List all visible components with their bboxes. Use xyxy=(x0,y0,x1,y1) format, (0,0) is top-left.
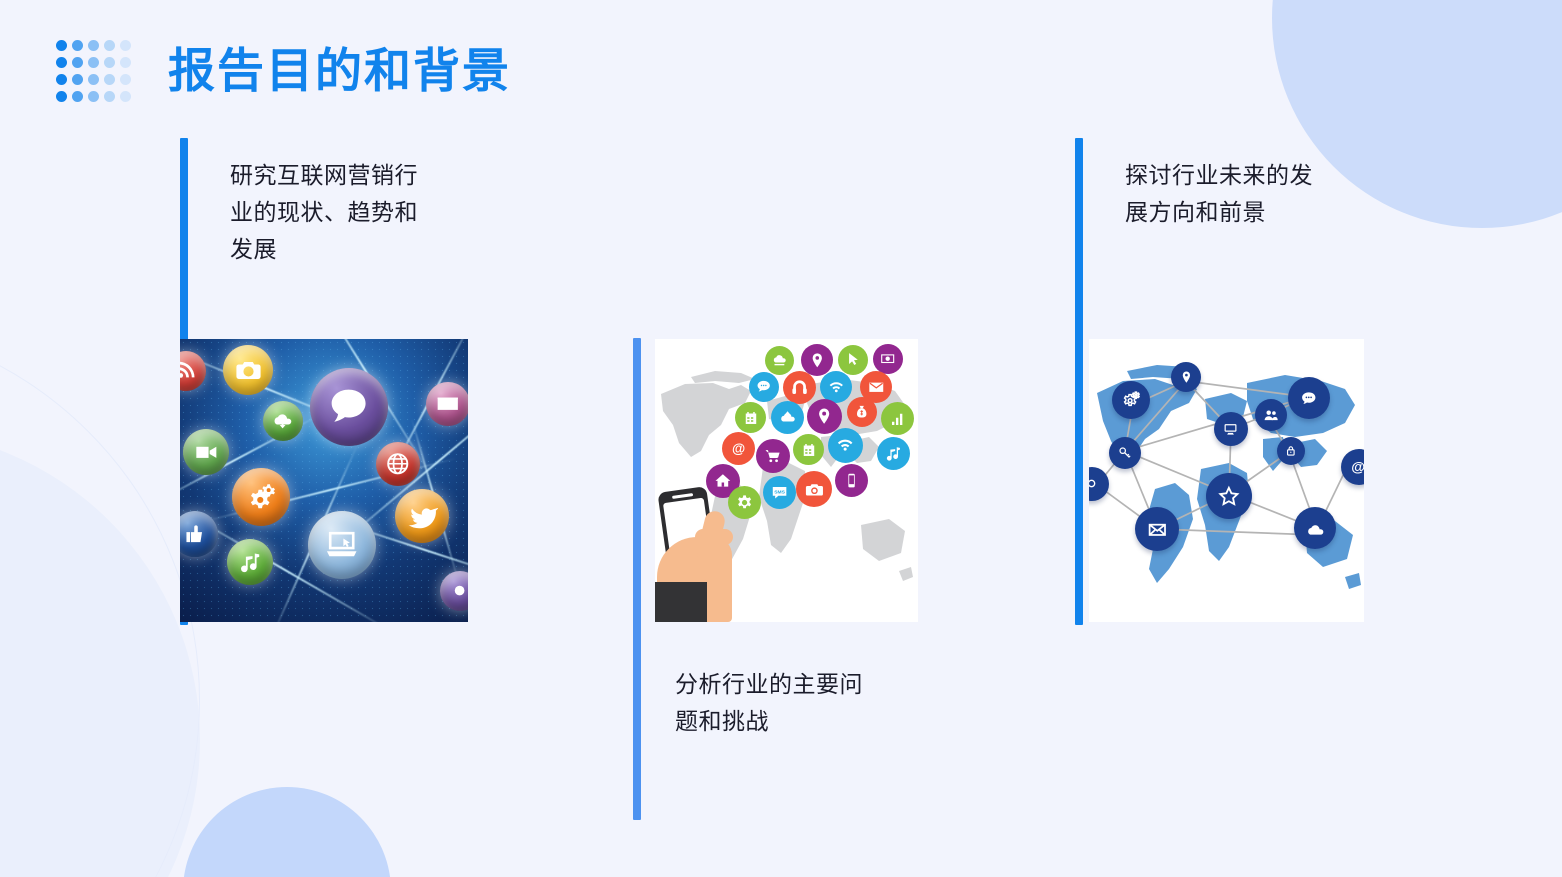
pic1-icon-video-camera xyxy=(183,429,229,475)
pic2-icon-smartphone xyxy=(835,464,868,497)
pic3-pin-envelope xyxy=(1135,507,1179,551)
pic2-icon-money xyxy=(873,344,903,374)
pic2-phone-speaker xyxy=(672,493,693,499)
pic2-icon-location-pin xyxy=(801,344,833,376)
column-text-right-line-1: 探讨行业未来的发 xyxy=(1125,157,1340,194)
pic3-pin-cloud xyxy=(1294,507,1336,549)
svg-text:@: @ xyxy=(732,441,745,456)
column-text-middle-line-1: 分析行业的主要问 xyxy=(675,666,890,703)
pic3-pin-location xyxy=(1171,362,1201,392)
column-text-left-line-2: 业的现状、趋势和 xyxy=(230,194,445,231)
pic2-icon-calendar-2 xyxy=(793,434,824,465)
image-social-network-glossy-icons xyxy=(180,339,468,622)
pic2-icon-wifi-2 xyxy=(828,428,863,463)
column-text-right-line-2: 展方向和前景 xyxy=(1125,194,1340,231)
background-arc-left-outline xyxy=(0,320,200,877)
svg-text:SMS: SMS xyxy=(774,489,785,495)
pic3-pin-people xyxy=(1255,399,1287,431)
pic2-icon-location-pin-2 xyxy=(807,399,842,434)
pic3-pin-lock xyxy=(1277,437,1305,465)
pic3-pin-monitor xyxy=(1214,412,1248,446)
slide-canvas: 报告目的和背景 研究互联网营销行 业的现状、趋势和 发展 xyxy=(0,0,1562,877)
pic2-icon-sms: SMS xyxy=(763,476,796,509)
accent-bar-right xyxy=(1075,138,1083,625)
pic1-icon-mail xyxy=(426,382,468,426)
image-mobile-marketing-icon-cloud: @ SMS xyxy=(655,339,918,622)
pic2-icon-cloud-hand xyxy=(765,346,794,375)
pic2-finger-3 xyxy=(699,565,727,580)
pic2-icon-money-bag xyxy=(847,397,877,427)
pic1-icon-camera xyxy=(223,345,273,395)
image-global-network-pins: @ xyxy=(1089,339,1364,622)
background-circle-bottom-left xyxy=(183,787,391,877)
column-text-left-line-1: 研究互联网营销行 xyxy=(230,157,445,194)
pic1-icon-laptop xyxy=(308,511,376,579)
pic1-icon-globe xyxy=(376,442,420,486)
column-text-middle: 分析行业的主要问 题和挑战 xyxy=(675,666,890,740)
pic1-icon-gears xyxy=(232,468,290,526)
dot-grid-icon xyxy=(56,40,136,108)
pic1-icon-cloud-download xyxy=(263,401,303,441)
pic2-icon-cursor xyxy=(838,345,868,375)
pic1-icon-chat-bubble xyxy=(310,368,388,446)
column-text-right: 探讨行业未来的发 展方向和前景 xyxy=(1125,157,1340,231)
accent-bar-middle xyxy=(633,338,641,820)
column-text-middle-line-2: 题和挑战 xyxy=(675,703,890,740)
pic2-icon-cloud-upload xyxy=(771,401,804,434)
pic2-finger-2 xyxy=(697,547,731,563)
pic3-pin-key xyxy=(1109,437,1141,469)
pic3-pin-chat-bubble xyxy=(1288,377,1330,419)
pic2-icon-music-note xyxy=(877,437,910,470)
svg-text:@: @ xyxy=(1351,460,1364,476)
pic1-icon-music-note xyxy=(227,539,273,585)
pic2-icon-camera xyxy=(796,471,832,507)
page-title: 报告目的和背景 xyxy=(168,41,511,101)
pic2-icon-bar-chart xyxy=(881,402,914,435)
pic2-icon-calendar xyxy=(735,402,766,433)
column-text-left: 研究互联网营销行 业的现状、趋势和 发展 xyxy=(230,157,445,268)
pic2-icon-chat-bubble xyxy=(749,372,779,402)
pic3-pin-gears xyxy=(1112,381,1150,419)
pic1-icon-bird xyxy=(395,489,449,543)
column-text-left-line-3: 发展 xyxy=(230,231,445,268)
pic2-icon-headphones xyxy=(783,371,816,404)
pic2-icon-shopping-cart xyxy=(756,439,790,473)
pic3-pin-star xyxy=(1206,473,1252,519)
pic2-dark-block xyxy=(655,582,707,622)
pic2-icon-at-sign: @ xyxy=(722,432,755,465)
